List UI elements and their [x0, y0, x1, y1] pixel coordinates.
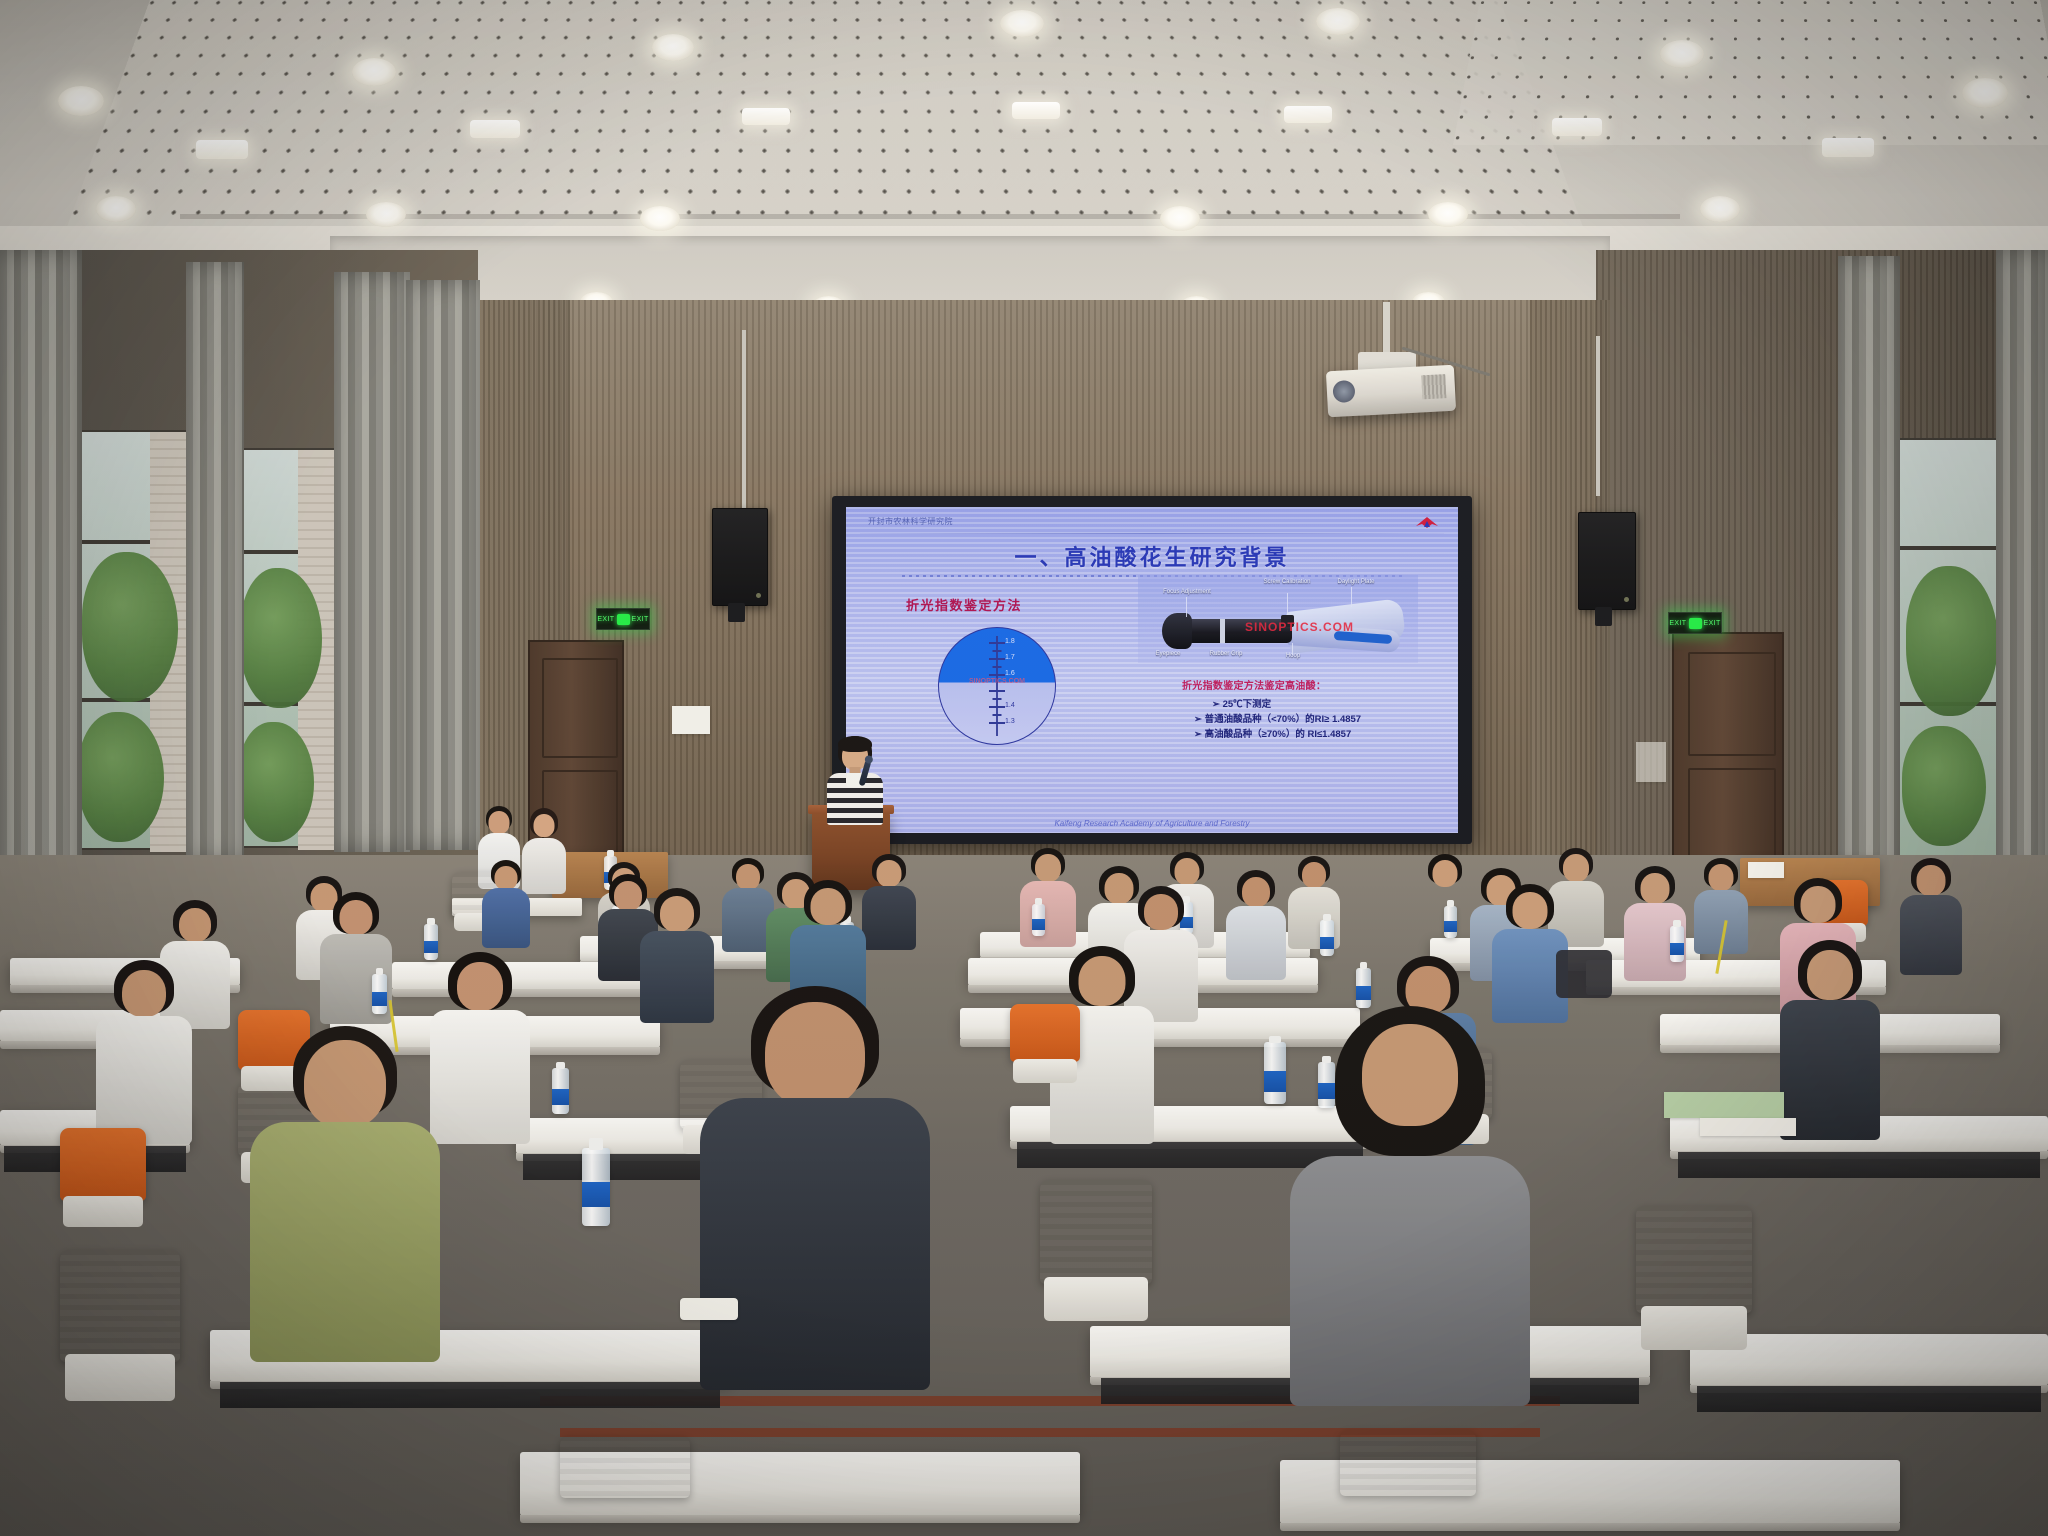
scale-value-5: 1.3: [1005, 718, 1015, 725]
ceiling-downlight: [1160, 206, 1200, 231]
audience-a1: [482, 860, 530, 946]
audience-e2-foreground: [700, 986, 930, 1382]
refractometer-illustration: SINOPTICS.COM Focus Adjustment Screw Cal…: [1138, 575, 1418, 663]
wall-placard-left: [672, 706, 710, 734]
acoustic-ceiling-panels: [63, 0, 1587, 239]
ceiling-downlight: [352, 58, 396, 86]
water-bottle[interactable]: [372, 974, 387, 1014]
curtain-left-2: [186, 262, 244, 862]
slide-bullet-3: ➢ 高油酸品种（≥70%）的 RI≤1.4857: [1194, 727, 1444, 742]
chair-front-2[interactable]: [1040, 1180, 1152, 1348]
speaker-rod-left: [742, 330, 746, 510]
scale-value-3: 1.6: [1005, 670, 1015, 677]
ceiling-downlight: [58, 86, 104, 116]
audience-d5: [1780, 940, 1880, 1136]
exit-sign-right-label: EXIT: [1669, 620, 1686, 627]
label-eyepiece: Eyepiece: [1146, 651, 1190, 658]
wall-speaker-left: [712, 508, 768, 606]
audience-a4: [862, 854, 916, 948]
institute-logo-icon: [1414, 515, 1440, 531]
chair-mid-orange-1[interactable]: [60, 1128, 146, 1246]
audience-a5: [1020, 848, 1076, 944]
exit-sign-left-label: EXIT: [597, 616, 614, 623]
water-bottle[interactable]: [1356, 968, 1371, 1008]
chair-front-3[interactable]: [1636, 1206, 1752, 1378]
audience-b8: [1900, 858, 1962, 972]
label-screw-calibration: Screw Calibration: [1262, 579, 1312, 586]
acoustic-ceiling-panels-right: [1453, 0, 2048, 145]
table-papers: [1748, 862, 1784, 878]
slide-section-label: 折光指数鉴定方法鉴定高油酸：: [1182, 677, 1326, 692]
lecture-hall-photo: EXIT EXIT EXIT EXIT 开封市农林科学研究院 一、高油酸花生研究…: [0, 0, 2048, 1536]
scale-watermark: SINOPTICS.COM: [939, 678, 1055, 685]
slide-title: 一、高油酸花生研究背景: [846, 540, 1458, 572]
refractometer-scale: 1.8 1.7 1.6 1.4 1.3 SINOPTICS.COM: [938, 627, 1056, 745]
water-bottle[interactable]: [1032, 904, 1045, 936]
chair-mid-orange-3[interactable]: [1010, 1004, 1080, 1098]
exit-sign-left: EXIT EXIT: [596, 608, 650, 630]
ceiling-downlight: [1428, 202, 1468, 227]
slide-header: 开封市农林科学研究院: [868, 516, 953, 527]
desk-papers: [1700, 1118, 1796, 1136]
audience-d1: [96, 960, 192, 1140]
ceiling-downlight: [96, 196, 136, 222]
window-left-2: [236, 448, 340, 848]
label-focus-adjustment: Focus Adjustment: [1148, 589, 1226, 596]
ceiling-downlight: [1962, 78, 2008, 108]
curtain-right-2: [1996, 250, 2048, 880]
ceiling-projector: [1326, 365, 1456, 418]
scale-value-2: 1.7: [1005, 654, 1015, 661]
shoulder-bag: [1556, 950, 1612, 998]
water-bottle[interactable]: [1320, 920, 1334, 956]
projector-lens: [1332, 380, 1355, 403]
label-rubber-grip: Rubber Grip: [1200, 651, 1252, 658]
ceiling-downlight: [196, 140, 248, 159]
door-right[interactable]: [1672, 632, 1784, 888]
water-bottle[interactable]: [552, 1068, 569, 1114]
chair-front-4[interactable]: [560, 1436, 690, 1536]
ceiling-downlight: [1700, 196, 1740, 222]
ceiling-downlight: [1316, 8, 1360, 35]
audience-e1-foreground: [250, 1026, 440, 1356]
label-daylight-plate: Daylight Plate: [1324, 579, 1388, 586]
slide-footer: Kaifeng Research Academy of Agriculture …: [846, 819, 1458, 828]
wall-speaker-right: [1578, 512, 1636, 610]
curtain-left-4: [406, 280, 480, 850]
window-left-1: [74, 430, 194, 850]
curtain-right-1: [1838, 256, 1900, 876]
label-hoop: Hoop: [1278, 653, 1308, 660]
exit-sign-left-label2: EXIT: [632, 616, 649, 623]
running-man-icon: [1689, 618, 1702, 629]
ceiling-downlight: [366, 202, 406, 227]
audience-e3-foreground: [1290, 1006, 1530, 1396]
slide-bullet-2: ➢ 普通油酸品种（<70%）的RI≥ 1.4857: [1194, 712, 1444, 727]
eyepiece-part: [1162, 613, 1192, 649]
projected-slide: 开封市农林科学研究院 一、高油酸花生研究背景 折光指数鉴定方法 SINOPTIC…: [846, 507, 1458, 833]
slide-bullet-1: ➢ 25℃下测定: [1212, 697, 1444, 712]
desk-papers: [1664, 1092, 1784, 1118]
slide-watermark: SINOPTICS.COM: [1192, 620, 1407, 634]
curtain-left-3: [334, 272, 410, 852]
water-bottle[interactable]: [1444, 906, 1457, 938]
slide-subtitle: 折光指数鉴定方法: [906, 595, 1022, 614]
audience-d2: [430, 952, 530, 1140]
projector-vent: [1421, 374, 1446, 399]
speaker-rod-right: [1596, 336, 1600, 496]
water-bottle[interactable]: [1264, 1042, 1286, 1104]
ceiling-downlight: [1660, 40, 1704, 68]
tissue: [680, 1298, 738, 1320]
water-bottle[interactable]: [1670, 926, 1684, 962]
running-man-icon: [617, 614, 630, 625]
ceiling-downlight: [1284, 106, 1332, 123]
ceiling-downlight: [1012, 102, 1060, 119]
ceiling-downlight: [652, 34, 694, 61]
ceiling-downlight: [640, 206, 680, 231]
scale-value-4: 1.4: [1005, 702, 1015, 709]
ceiling-downlight: [470, 120, 520, 138]
chair-front-5[interactable]: [1340, 1430, 1476, 1536]
ceiling-downlight: [742, 108, 790, 125]
water-bottle-foreground[interactable]: [582, 1148, 610, 1226]
presenter: [826, 736, 884, 824]
audience-b5: [1226, 870, 1286, 978]
chair-front-1[interactable]: [60, 1250, 180, 1430]
ceiling-downlight: [1000, 10, 1044, 37]
window-right-1: [1896, 438, 2008, 858]
ceiling-downlight: [1822, 138, 1874, 157]
ceiling-downlight: [1552, 118, 1602, 136]
exit-sign-right-label2: EXIT: [1704, 620, 1721, 627]
wall-placard-right: [1636, 742, 1666, 782]
slide-bullet-list: ➢ 25℃下测定 ➢ 普通油酸品种（<70%）的RI≥ 1.4857 ➢ 高油酸…: [1194, 697, 1444, 742]
curtain-left-1: [0, 250, 82, 890]
exit-sign-right: EXIT EXIT: [1668, 612, 1722, 634]
scale-value-1: 1.8: [1005, 638, 1015, 645]
